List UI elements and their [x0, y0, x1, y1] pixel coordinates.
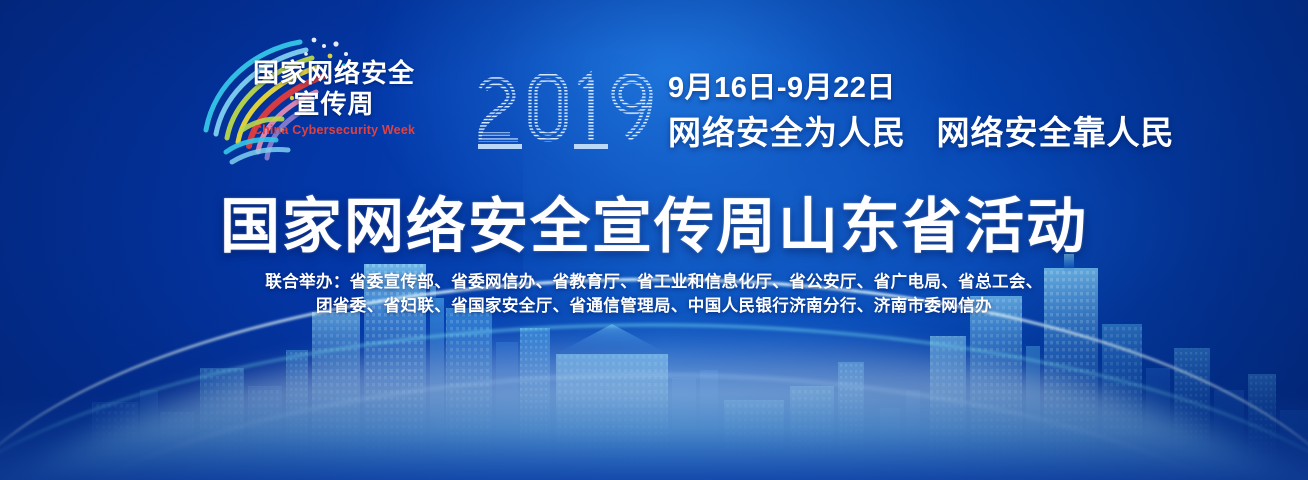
cybersecurity-week-banner: 国家网络安全 宣传周 China Cybersecurity Week [0, 0, 1308, 480]
logo-line-1: 国家网络安全 [246, 58, 422, 88]
organizers-line-1: 联合举办：省委宣传部、省委网信办、省教育厅、省工业和信息化厅、省公安厅、省广电局… [0, 270, 1308, 294]
organizers-line-2: 团省委、省妇联、省国家安全厅、省通信管理局、中国人民银行济南分行、济南市委网信办 [0, 294, 1308, 318]
organizers-block: 联合举办：省委宣传部、省委网信办、省教育厅、省工业和信息化厅、省公安厅、省广电局… [0, 270, 1308, 318]
logo-english: China Cybersecurity Week [246, 122, 422, 138]
slogan-text: 网络安全为人民 网络安全靠人民 [668, 112, 1175, 154]
date-range: 9月16日-9月22日 [668, 70, 896, 106]
logo-text-block: 国家网络安全 宣传周 China Cybersecurity Week [246, 58, 422, 138]
main-title: 国家网络安全宣传周山东省活动 [0, 192, 1308, 262]
year-2019 [474, 58, 664, 162]
logo: 国家网络安全 宣传周 China Cybersecurity Week [196, 34, 424, 166]
logo-line-2: 宣传周 [246, 89, 422, 119]
